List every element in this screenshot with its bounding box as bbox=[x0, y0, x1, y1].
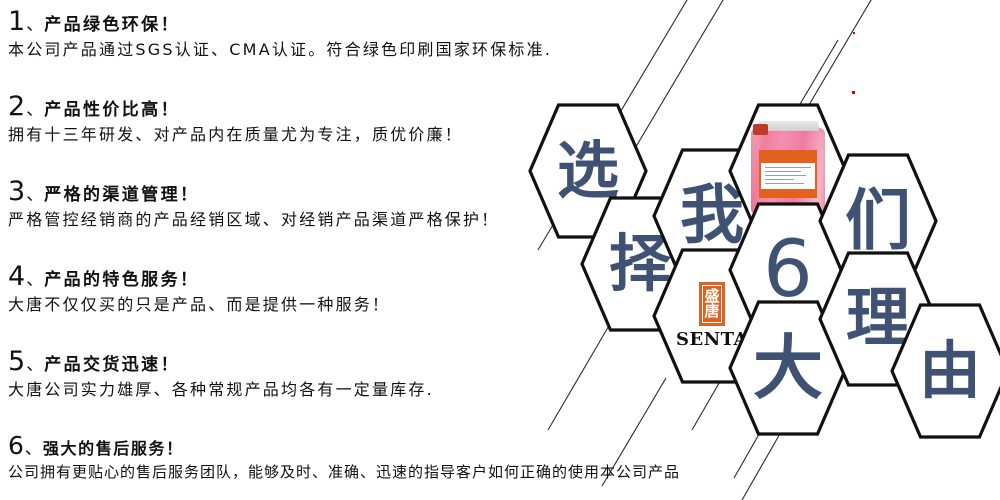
hexagon-you[interactable]: 由 bbox=[891, 303, 1000, 439]
brand-char-tang: 唐 bbox=[704, 304, 719, 319]
jerrycan-cap bbox=[753, 124, 768, 135]
label-text-lines bbox=[765, 167, 811, 187]
brand-seal-icon: 盛 唐 bbox=[699, 282, 725, 326]
red-speck bbox=[852, 91, 855, 94]
label-footer-bar bbox=[761, 189, 815, 196]
hexagon-cluster: 选 择 我 盛 唐 SENTA bbox=[0, 0, 1000, 500]
product-label bbox=[759, 150, 817, 198]
poster-canvas: 选 择 我 盛 唐 SENTA bbox=[0, 0, 1000, 500]
hexagon-label: 由 bbox=[891, 303, 1000, 439]
red-speck bbox=[853, 32, 855, 34]
label-header-bar bbox=[761, 152, 815, 163]
